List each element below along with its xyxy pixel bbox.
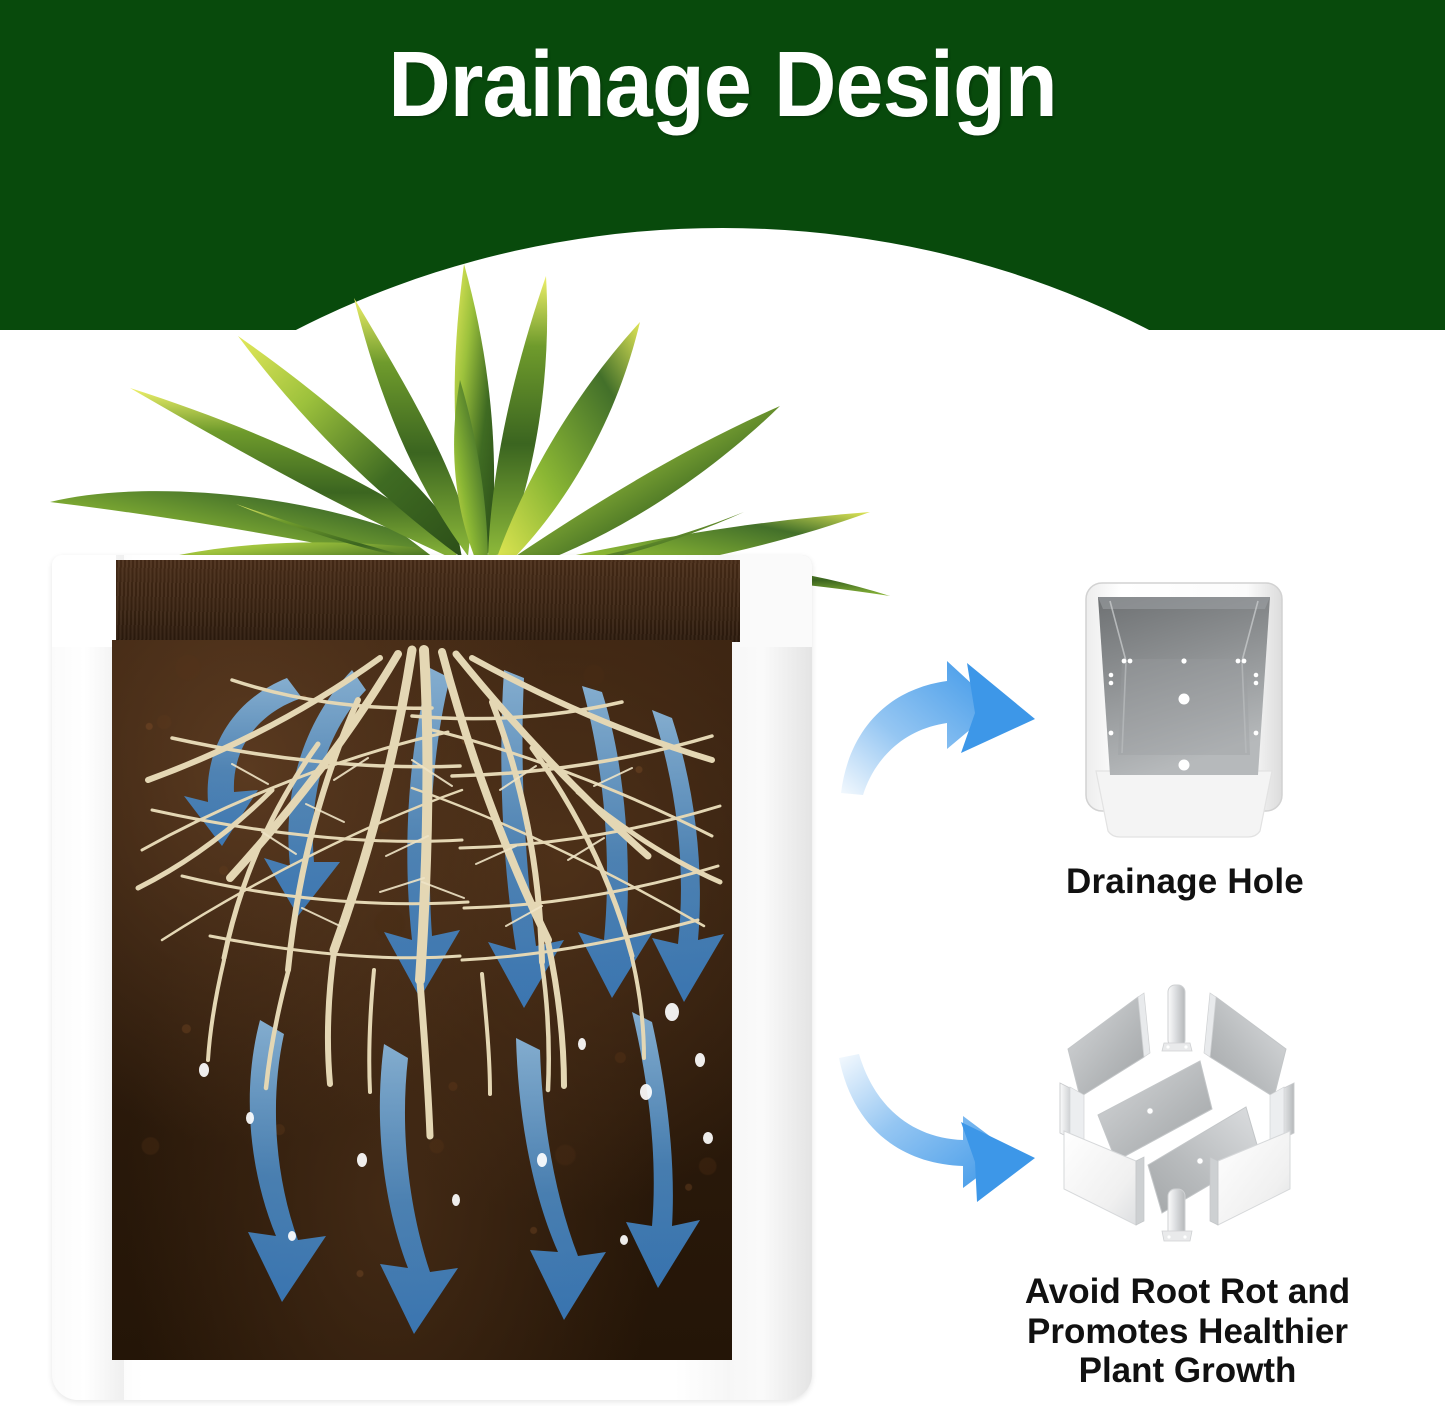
callout-label-line: Avoid Root Rot and xyxy=(965,1272,1410,1312)
soil-cross-section xyxy=(112,640,732,1360)
soil-surface xyxy=(98,560,753,642)
callout-label-drainage-hole: Drainage Hole xyxy=(945,862,1425,902)
root-mass xyxy=(112,640,732,1360)
page-title: Drainage Design xyxy=(51,36,1395,134)
curved-arrow-top xyxy=(835,625,1070,795)
curved-arrow-bottom xyxy=(835,1040,1070,1225)
planter-rim-right xyxy=(740,555,812,647)
planter-exploded-panels xyxy=(1040,975,1330,1250)
callout-label-line: Promotes Healthier xyxy=(965,1312,1410,1352)
callout-label-line: Plant Growth xyxy=(965,1351,1410,1391)
infographic-page: Drainage Design xyxy=(0,0,1445,1406)
planter-rim-left xyxy=(52,555,116,647)
planter-interior-top-view xyxy=(1060,575,1305,840)
planter-cross-section-image xyxy=(40,240,840,1400)
planter-right-wall xyxy=(730,555,812,1400)
callout-label-avoid-root-rot: Avoid Root Rot and Promotes Healthier Pl… xyxy=(965,1272,1410,1391)
corner-post xyxy=(1162,985,1192,1051)
